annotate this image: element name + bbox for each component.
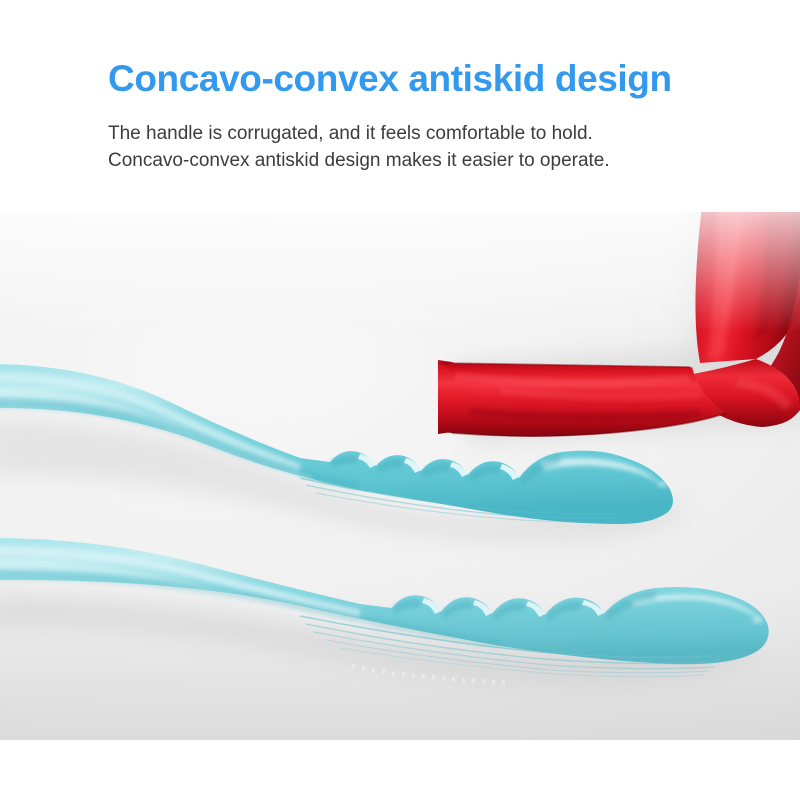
product-photo: [0, 212, 800, 740]
red-satin-ribbon-group: [438, 212, 800, 444]
product-photo-illustration: [0, 212, 800, 740]
footer-white-strip: [0, 740, 800, 800]
product-photo-scene: [0, 212, 800, 740]
product-feature-card: Concavo-convex antiskid design The handl…: [0, 0, 800, 800]
page-title: Concavo-convex antiskid design: [108, 57, 672, 101]
subtitle-line-1: The handle is corrugated, and it feels c…: [108, 120, 728, 147]
subtitle-line-2: Concavo-convex antiskid design makes it …: [108, 147, 728, 174]
header-section: Concavo-convex antiskid design The handl…: [0, 0, 800, 212]
subtitle-block: The handle is corrugated, and it feels c…: [108, 120, 728, 174]
lower-tong-arm-group: [0, 538, 769, 686]
